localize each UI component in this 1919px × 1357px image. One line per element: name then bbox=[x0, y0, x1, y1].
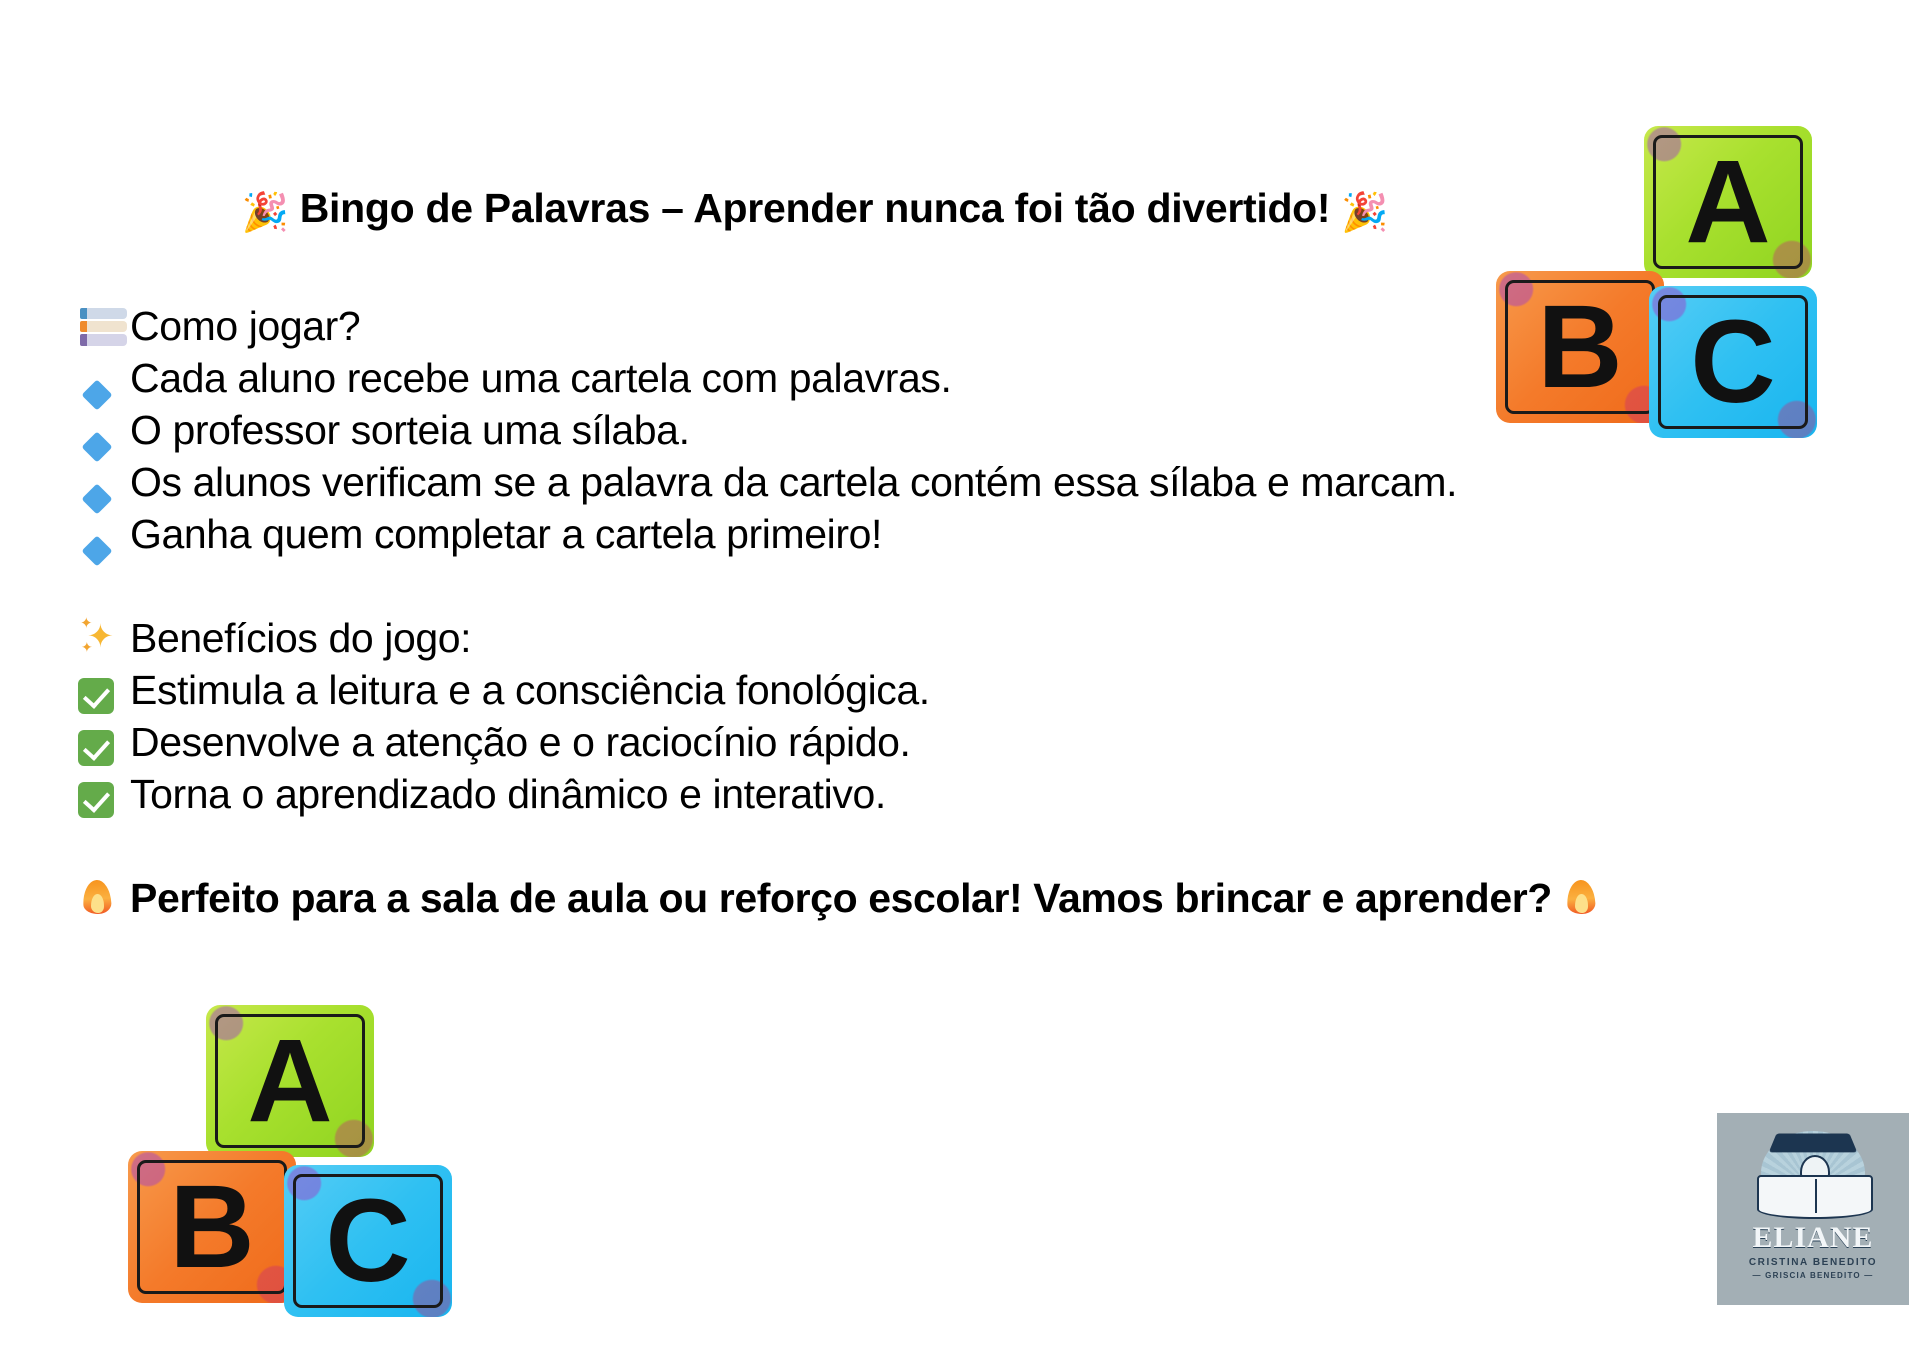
blue-diamond-icon bbox=[78, 404, 130, 456]
sparkles-icon: ✦✦✦ bbox=[78, 612, 130, 664]
call-to-action-text: Perfeito para a sala de aula ou reforço … bbox=[130, 872, 1552, 924]
graduation-book-lightbulb-icon bbox=[1754, 1127, 1872, 1219]
block-letter-a: A bbox=[1644, 126, 1812, 278]
how-to-play-item-text: Cada aluno recebe uma cartela com palavr… bbox=[130, 352, 951, 404]
benefits-heading: ✦✦✦ Benefícios do jogo: bbox=[78, 612, 1778, 664]
page-title-text: Bingo de Palavras – Aprender nunca foi t… bbox=[300, 185, 1331, 231]
fire-icon bbox=[78, 872, 130, 924]
party-popper-icon: 🎉 bbox=[242, 192, 289, 234]
section-spacer bbox=[78, 820, 1778, 872]
benefits-item-text: Estimula a leitura e a consciência fonol… bbox=[130, 664, 930, 716]
block-letter-b: B bbox=[128, 1151, 296, 1303]
watermark-logo: ELIANE CRISTINA BENEDITO — GRISCIA BENED… bbox=[1717, 1113, 1909, 1305]
green-check-icon bbox=[78, 664, 130, 716]
block-a-letter: A bbox=[247, 1022, 332, 1140]
watermark-name: ELIANE bbox=[1752, 1223, 1873, 1253]
benefits-item: Desenvolve a atenção e o raciocínio rápi… bbox=[78, 716, 1778, 768]
block-a-letter: A bbox=[1685, 143, 1770, 261]
blue-diamond-icon bbox=[78, 508, 130, 560]
call-to-action: Perfeito para a sala de aula ou reforço … bbox=[78, 872, 1778, 924]
abc-blocks-bottom: A B C bbox=[128, 1005, 458, 1325]
section-spacer bbox=[78, 560, 1778, 612]
books-icon bbox=[78, 300, 130, 352]
how-to-play-item-text: Os alunos verificam se a palavra da cart… bbox=[130, 456, 1457, 508]
block-letter-a: A bbox=[206, 1005, 374, 1157]
benefits-item-text: Torna o aprendizado dinâmico e interativ… bbox=[130, 768, 886, 820]
how-to-play-heading: Como jogar? bbox=[78, 300, 1778, 352]
blue-diamond-icon bbox=[78, 352, 130, 404]
how-to-play-item: Cada aluno recebe uma cartela com palavr… bbox=[78, 352, 1778, 404]
green-check-icon bbox=[78, 768, 130, 820]
content-body: Como jogar? Cada aluno recebe uma cartel… bbox=[78, 300, 1778, 924]
benefits-item: Estimula a leitura e a consciência fonol… bbox=[78, 664, 1778, 716]
watermark-subtitle-secondary: — GRISCIA BENEDITO — bbox=[1753, 1271, 1874, 1280]
page-title: 🎉 Bingo de Palavras – Aprender nunca foi… bbox=[0, 188, 1630, 232]
how-to-play-item-text: O professor sorteia uma sílaba. bbox=[130, 404, 690, 456]
how-to-play-item: O professor sorteia uma sílaba. bbox=[78, 404, 1778, 456]
how-to-play-heading-text: Como jogar? bbox=[130, 300, 360, 352]
fire-icon bbox=[1562, 872, 1608, 924]
block-c-letter: C bbox=[325, 1182, 410, 1300]
benefits-item-text: Desenvolve a atenção e o raciocínio rápi… bbox=[130, 716, 911, 768]
blue-diamond-icon bbox=[78, 456, 130, 508]
watermark-subtitle: CRISTINA BENEDITO bbox=[1749, 1257, 1877, 1268]
benefits-item: Torna o aprendizado dinâmico e interativ… bbox=[78, 768, 1778, 820]
benefits-heading-text: Benefícios do jogo: bbox=[130, 612, 471, 664]
party-popper-icon: 🎉 bbox=[1341, 192, 1388, 234]
block-b-letter: B bbox=[169, 1168, 254, 1286]
green-check-icon bbox=[78, 716, 130, 768]
how-to-play-item-text: Ganha quem completar a cartela primeiro! bbox=[130, 508, 882, 560]
block-letter-c: C bbox=[284, 1165, 452, 1317]
how-to-play-item: Ganha quem completar a cartela primeiro! bbox=[78, 508, 1778, 560]
how-to-play-item: Os alunos verificam se a palavra da cart… bbox=[78, 456, 1778, 508]
